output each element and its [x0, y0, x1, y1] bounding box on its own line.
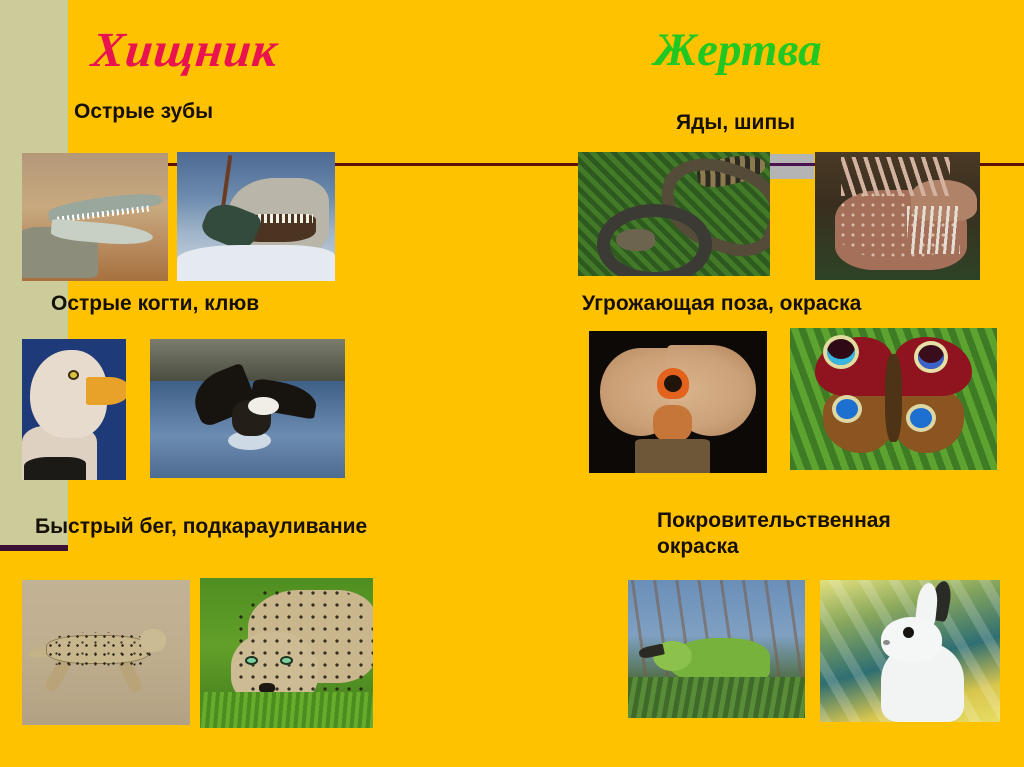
left-accent-bar: [0, 545, 68, 551]
photo-eagle-flying: [150, 339, 345, 478]
photo-camouflaged-bird: [628, 580, 805, 718]
photo-white-hare: [820, 580, 1000, 722]
photo-shark: [177, 152, 335, 281]
caption-poisons-spines: Яды, шипы: [676, 110, 795, 136]
photo-snake: [578, 152, 770, 276]
prey-column-title: Жертва: [654, 23, 822, 77]
gray-accent-block: [770, 154, 814, 179]
caption-threatening-pose: Угрожающая поза, окраска: [582, 291, 861, 317]
gray-accent-block-line: [770, 163, 814, 166]
photo-frilled-lizard: [589, 331, 767, 473]
photo-peacock-butterfly: [790, 328, 997, 470]
caption-protective-coloration: Покровительственная окраска: [657, 508, 891, 560]
slide-canvas: Хищник Жертва Острые зубы Острые когти, …: [0, 0, 1024, 767]
photo-iguana: [815, 152, 980, 280]
predator-column-title: Хищник: [89, 21, 281, 78]
photo-crocodile: [22, 153, 168, 281]
caption-sharp-claws-beak: Острые когти, клюв: [51, 291, 259, 317]
photo-cheetah-crouching: [200, 578, 373, 728]
photo-cheetah-running: [22, 580, 190, 725]
caption-fast-running: Быстрый бег, подкарауливание: [35, 514, 367, 540]
photo-eagle-head: [22, 339, 126, 480]
caption-sharp-teeth: Острые зубы: [74, 99, 213, 125]
